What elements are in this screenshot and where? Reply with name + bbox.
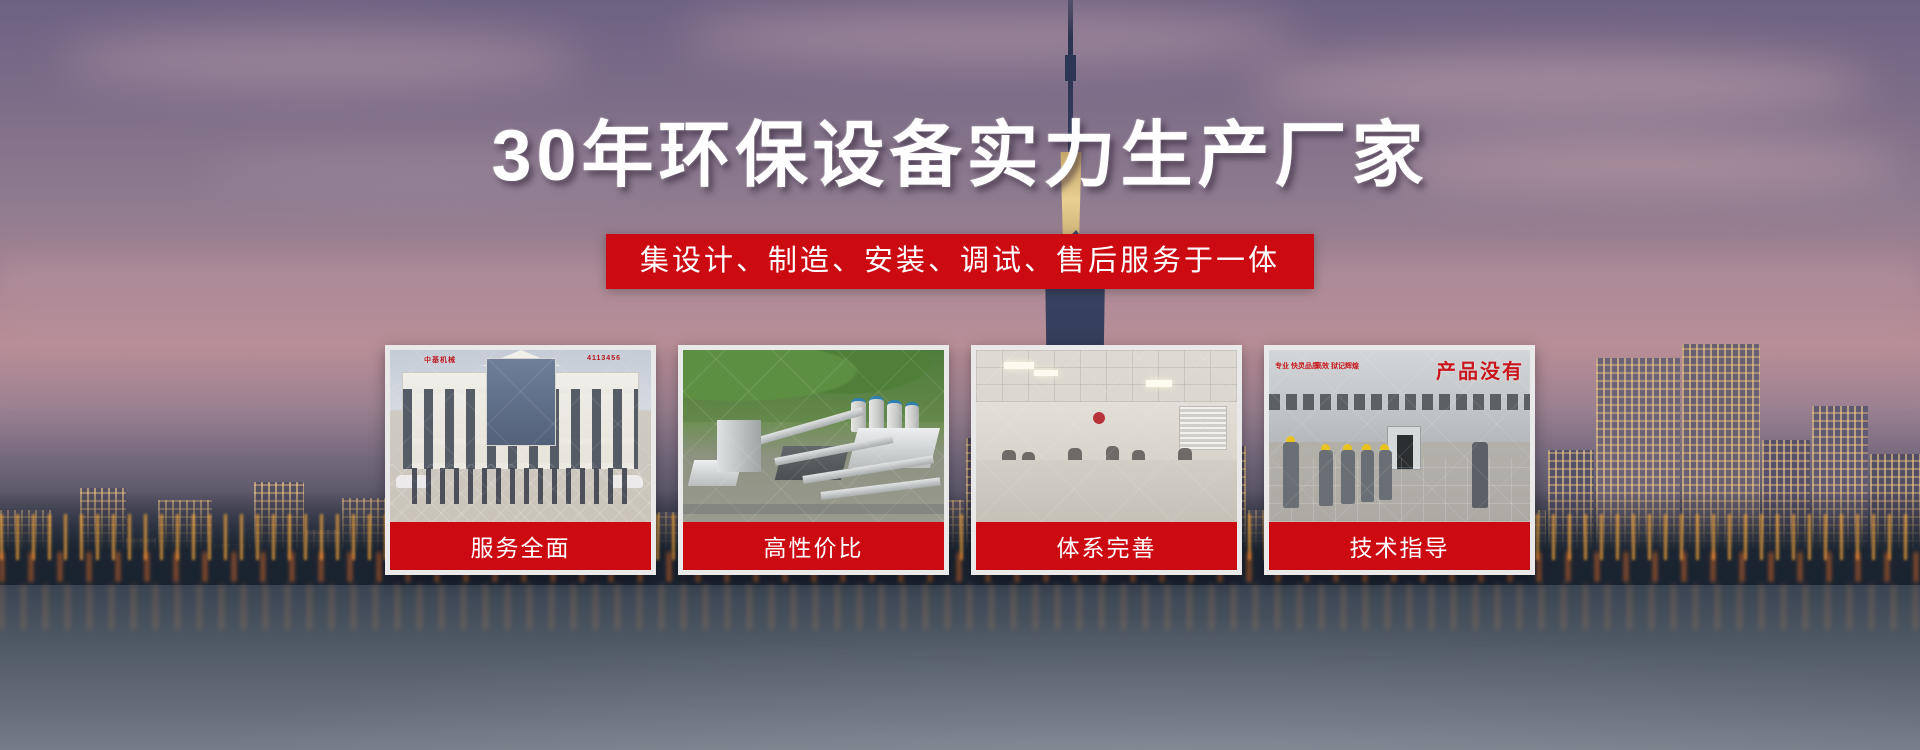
card-photo-factory-workers: 产品没有 专业 快灵品质 高效 狱记辉煌 (1269, 350, 1530, 522)
card-photo-company-building: 中基机械 4113456 (390, 350, 651, 522)
card-photo-industrial-plant (683, 350, 944, 522)
card-label: 体系完善 (976, 522, 1237, 570)
factory-banner-text: 产品没有 (1436, 355, 1524, 384)
factory-slogan-mid: 高效 狱记辉煌 (1315, 362, 1359, 372)
building-sign-text: 中基机械 (424, 355, 456, 365)
card-label: 高性价比 (683, 522, 944, 570)
card-photo-office-interior (976, 350, 1237, 522)
feature-card[interactable]: 高性价比 (678, 345, 949, 575)
subtitle-bar-wrap: 集设计、制造、安装、调试、售后服务于一体 (0, 234, 1920, 289)
subtitle-badge: 集设计、制造、安装、调试、售后服务于一体 (606, 234, 1314, 289)
factory-slogan-left: 专业 快灵品质 (1275, 362, 1319, 372)
card-label: 服务全面 (390, 522, 651, 570)
water-sheen (0, 585, 1920, 750)
feature-card-list: 中基机械 4113456 服务全面 (0, 345, 1920, 575)
feature-card[interactable]: 体系完善 (971, 345, 1242, 575)
building-phone-text: 4113456 (587, 355, 621, 362)
hero-banner: 30年环保设备实力生产厂家 集设计、制造、安装、调试、售后服务于一体 中基机械 … (0, 0, 1920, 750)
card-label: 技术指导 (1269, 522, 1530, 570)
page-title: 30年环保设备实力生产厂家 (0, 96, 1920, 201)
feature-card[interactable]: 产品没有 专业 快灵品质 高效 狱记辉煌 技术指导 (1264, 345, 1535, 575)
feature-card[interactable]: 中基机械 4113456 服务全面 (385, 345, 656, 575)
